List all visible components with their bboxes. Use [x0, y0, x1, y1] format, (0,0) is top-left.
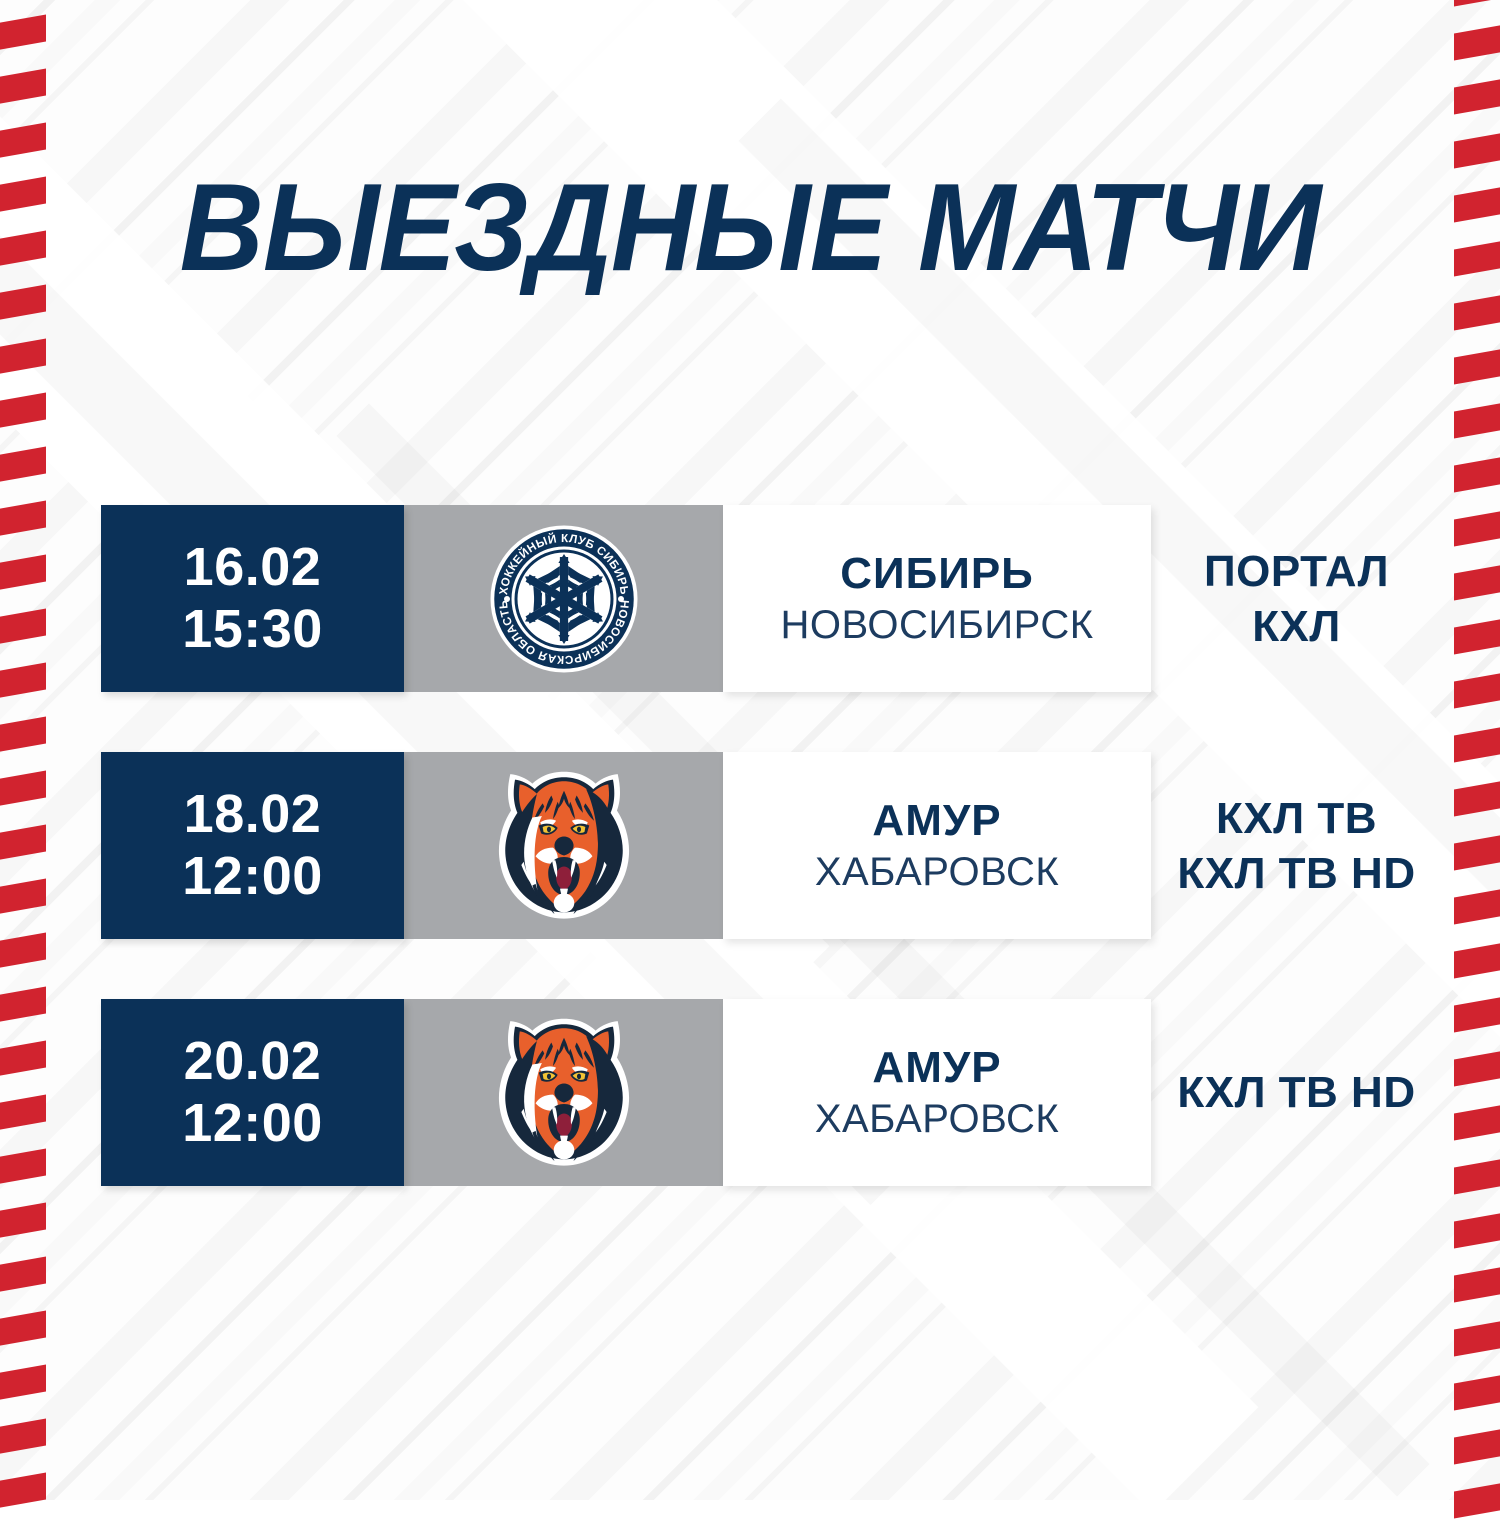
red-dash	[0, 284, 46, 330]
match-time: 12:00	[182, 846, 323, 907]
red-dash	[1454, 68, 1500, 114]
red-dash	[0, 1418, 46, 1464]
red-dash	[1454, 1310, 1500, 1356]
red-dash	[1454, 1256, 1500, 1302]
row-left-spacer	[0, 999, 101, 1186]
red-dash	[1454, 1472, 1500, 1518]
red-dash	[0, 176, 46, 222]
amur-logo	[485, 1014, 643, 1172]
red-dash	[1454, 1364, 1500, 1410]
red-dash	[0, 1472, 46, 1518]
broadcast-channel: КХЛ ТВ HD	[1177, 1065, 1415, 1120]
team-city: ХАБАРОВСК	[815, 1095, 1059, 1144]
team-logo-cell	[404, 999, 723, 1186]
red-dash	[0, 14, 46, 60]
match-time: 12:00	[182, 1093, 323, 1154]
red-dash	[0, 68, 46, 114]
match-time: 15:30	[182, 599, 323, 660]
broadcast-cell: ПОРТАЛКХЛ	[1151, 505, 1500, 692]
red-dash	[1454, 0, 1500, 7]
match-datetime-cell: 18.0212:00	[101, 752, 404, 939]
red-dash	[1454, 446, 1500, 492]
team-name-cell: АМУРХАБАРОВСК	[723, 752, 1151, 939]
red-dash	[0, 392, 46, 438]
team-city: ХАБАРОВСК	[815, 848, 1059, 897]
page-title: ВЫЕЗДНЫЕ МАТЧИ	[45, 166, 1455, 290]
team-logo-cell	[404, 752, 723, 939]
broadcast-channel: ПОРТАЛ	[1204, 544, 1389, 599]
red-dash	[0, 0, 46, 7]
team-name: АМУР	[872, 794, 1001, 848]
row-left-spacer	[0, 505, 101, 692]
team-name: АМУР	[872, 1041, 1001, 1095]
broadcast-channel: КХЛ ТВ HD	[1177, 846, 1415, 901]
match-datetime-cell: 20.0212:00	[101, 999, 404, 1186]
red-dash	[0, 446, 46, 492]
team-name-cell: АМУРХАБАРОВСК	[723, 999, 1151, 1186]
red-dash	[1454, 176, 1500, 222]
red-dash	[1454, 284, 1500, 330]
match-list: 16.0215:30 ХОККЕЙНЫЙ КЛУБ СИБИРЬ НОВОСИБ…	[0, 505, 1500, 1246]
red-dash	[0, 338, 46, 384]
red-dash	[1454, 338, 1500, 384]
sibir-logo: ХОККЕЙНЫЙ КЛУБ СИБИРЬ НОВОСИБИРСКАЯ ОБЛА…	[489, 524, 639, 674]
red-dash	[0, 122, 46, 168]
red-dash	[1454, 122, 1500, 168]
broadcast-channel: КХЛ ТВ	[1216, 791, 1377, 846]
red-dash	[1454, 230, 1500, 276]
broadcast-cell: КХЛ ТВКХЛ ТВ HD	[1151, 752, 1500, 939]
team-name-cell: СИБИРЬНОВОСИБИРСК	[723, 505, 1151, 692]
broadcast-channel: КХЛ	[1252, 599, 1341, 654]
red-dash	[0, 230, 46, 276]
team-name: СИБИРЬ	[840, 547, 1034, 601]
red-dash	[0, 1364, 46, 1410]
match-row[interactable]: 18.0212:00	[0, 752, 1500, 939]
row-left-spacer	[0, 752, 101, 939]
match-date: 16.02	[184, 537, 322, 598]
red-dash	[1454, 392, 1500, 438]
match-datetime-cell: 16.0215:30	[101, 505, 404, 692]
red-dash	[1454, 14, 1500, 60]
broadcast-cell: КХЛ ТВ HD	[1151, 999, 1500, 1186]
team-city: НОВОСИБИРСК	[780, 601, 1093, 650]
amur-logo	[485, 767, 643, 925]
match-row[interactable]: 16.0215:30 ХОККЕЙНЫЙ КЛУБ СИБИРЬ НОВОСИБ…	[0, 505, 1500, 692]
team-logo-cell: ХОККЕЙНЫЙ КЛУБ СИБИРЬ НОВОСИБИРСКАЯ ОБЛА…	[404, 505, 723, 692]
match-row[interactable]: 20.0212:00	[0, 999, 1500, 1186]
red-dash	[1454, 1418, 1500, 1464]
match-date: 18.02	[184, 784, 322, 845]
match-date: 20.02	[184, 1031, 322, 1092]
red-dash	[0, 1310, 46, 1356]
red-dash	[0, 1256, 46, 1302]
